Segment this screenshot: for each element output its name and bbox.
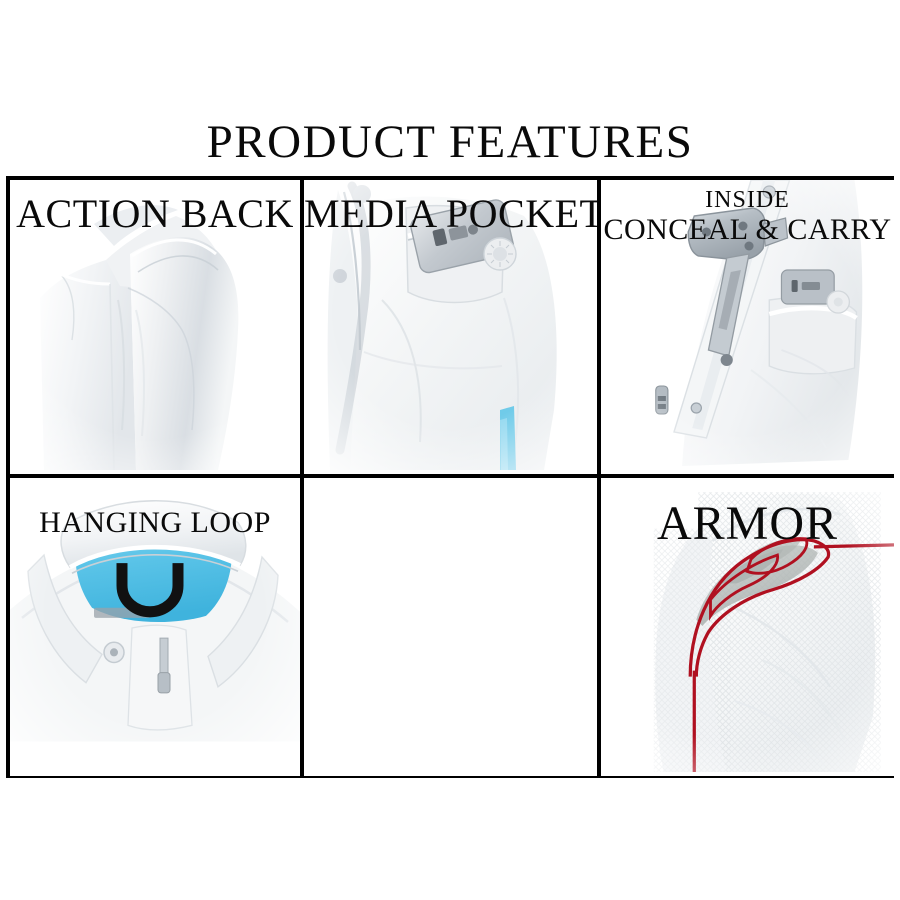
action-back-photo xyxy=(10,180,300,474)
product-features-page: PRODUCT FEATURES xyxy=(0,0,900,900)
feature-cell-conceal-carry[interactable]: INSIDE CONCEAL & CARRY xyxy=(601,180,894,478)
feature-cell-action-back[interactable]: ACTION BACK xyxy=(10,180,304,478)
feature-grid: ACTION BACK xyxy=(6,176,894,778)
media-pocket-photo xyxy=(304,180,597,474)
feature-cell-media-pocket[interactable]: MEDIA POCKET xyxy=(304,180,601,478)
hanging-loop-photo xyxy=(10,478,300,776)
feature-cell-hanging-loop[interactable]: HANGING LOOP xyxy=(10,478,304,776)
conceal-carry-photo xyxy=(601,180,894,474)
feature-cell-armor[interactable]: ARMOR xyxy=(601,478,894,776)
feature-cell-blank xyxy=(304,478,601,776)
armor-photo xyxy=(601,478,894,776)
page-title: PRODUCT FEATURES xyxy=(0,116,900,168)
